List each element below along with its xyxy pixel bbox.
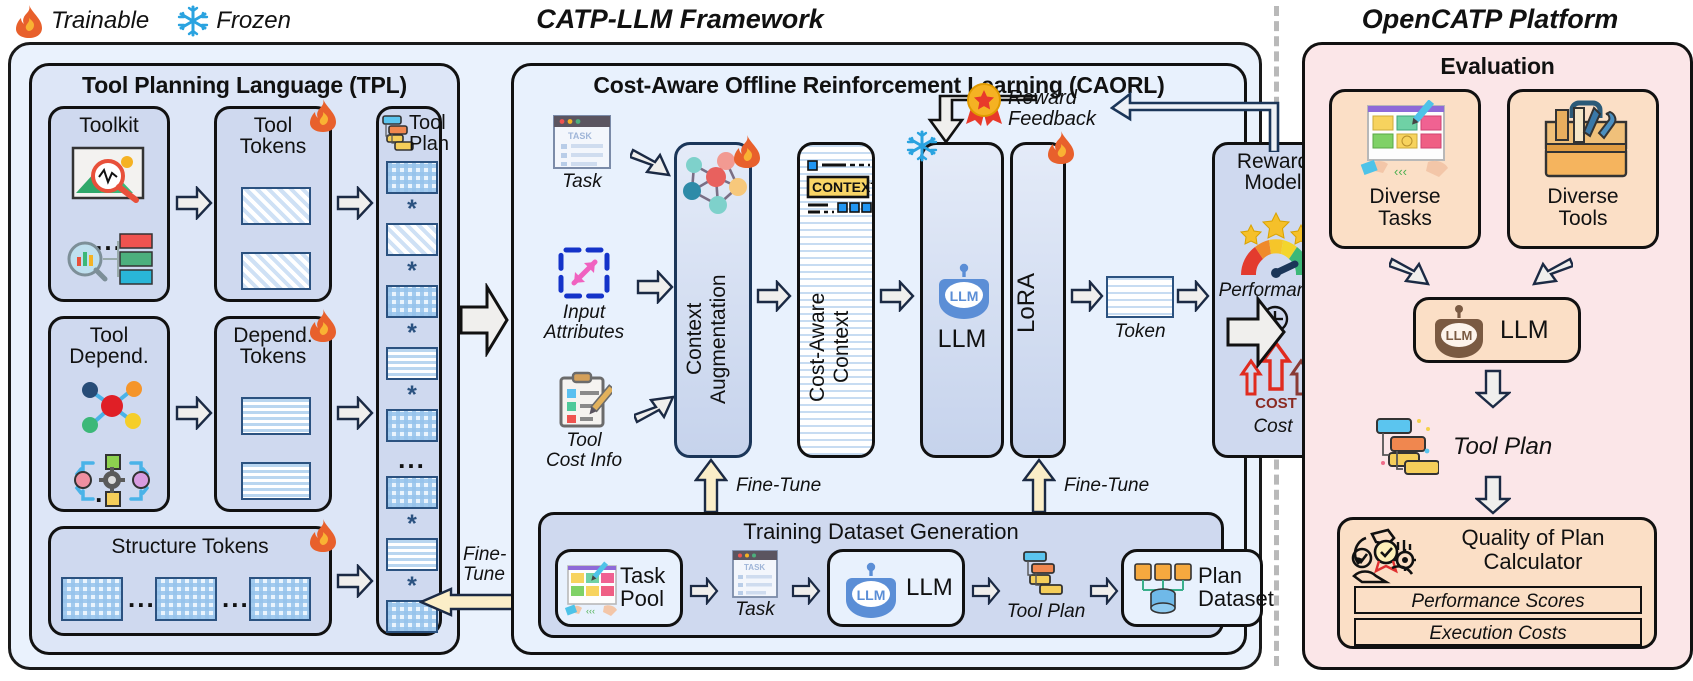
structure-tokens-ellipsis: ... [128,591,150,607]
task-pool-icon: ‹‹‹ [564,560,620,618]
lora-box[interactable]: LoRA [1010,142,1066,458]
task-step-label: Task [723,600,787,620]
plan-token-line [386,347,438,380]
depend-token-chip [241,462,311,500]
fine-tune-left-label: Fine-Tune [736,476,821,496]
plan-token-check [386,409,438,442]
flame-icon [308,518,338,552]
arrow-task-to-context-aug [630,144,672,182]
task-input-label: Task [538,172,626,192]
tool-plan-box[interactable]: Tool Plan * * * * ... * * [376,106,442,636]
reward-feedback-label: Reward Feedback [1008,88,1096,130]
tool-plan-label: Tool Plan [409,113,443,155]
quality-icon [1348,528,1420,588]
framework-title: CATP-LLM Framework [450,4,910,35]
task-input-group: TASK Task [538,114,626,192]
structure-tokens-label: Structure Tokens [51,529,329,557]
context-augmentation-label: Context Augmentation [683,227,749,451]
plan-token-check [386,285,438,318]
flame-icon [308,308,338,342]
arrow-fine-tune-context-aug [694,458,728,514]
flame-icon [1046,130,1076,164]
tool-plan-step-group: Tool Plan [1003,549,1089,622]
task-board-icon: ‹‹‹ [1356,100,1460,182]
training-llm-label: LLM [906,574,953,602]
legend-frozen: Frozen [177,5,291,37]
flame-icon [308,98,338,132]
task-window-icon: TASK [552,114,612,170]
arrow-framework-to-platform [1226,296,1286,368]
framework-container: Tool Planning Language (TPL) Toolkit ... [8,42,1262,670]
plan-token-line [386,538,438,571]
svg-text:TASK: TASK [568,131,592,141]
arrow-task-to-llm [791,577,821,605]
tool-plan-icon [1021,549,1071,601]
chart-analysis-icon [63,231,159,287]
training-llm-box[interactable]: LLM LLM [827,549,965,627]
structure-token-chip [155,577,217,621]
context-badge-text: CONTEXT [812,179,872,195]
arrow-tools-to-llm [1531,253,1573,291]
arrow-token-to-reward-model [1176,280,1210,312]
plan-token-check [386,161,438,194]
arrow-depend-to-depend-tokens [175,396,213,430]
svg-text:LLM: LLM [950,288,979,304]
input-attributes-group: Input Attributes [532,246,636,343]
diverse-tools-box[interactable]: Diverse Tools [1507,89,1659,249]
llm-robot-brown-icon: LLM [1432,304,1486,360]
arrow-structure-tokens-to-plan [336,564,374,598]
flame-icon [732,134,762,168]
quality-of-plan-calculator-box[interactable]: Quality of Plan Calculator Performance S… [1337,517,1657,649]
arrow-cost-context-to-llm [879,280,915,312]
llm-robot-icon: LLM [842,562,900,620]
legend-trainable-label: Trainable [51,7,149,35]
plan-token-hatch [386,223,438,256]
structure-tokens-box[interactable]: Structure Tokens ... ... [48,526,332,636]
context-augmentation-box[interactable]: Context Augmentation [674,142,752,458]
arrow-llm-to-tool-plan [971,577,1001,605]
llm-robot-icon: LLM [935,263,993,321]
arrow-toolkit-to-tool-tokens [175,186,213,220]
tool-cost-info-label: Tool Cost Info [534,431,634,471]
diverse-tools-label: Diverse Tools [1510,186,1656,230]
platform-container: Evaluation ‹‹‹ Diverse Tasks [1302,42,1693,670]
training-dataset-generation-box: Training Dataset Generation ‹‹‹ [538,512,1224,638]
fine-tune-right-label: Fine-Tune [1064,476,1149,496]
svg-text:COST: COST [1255,395,1297,411]
task-pool-box[interactable]: ‹‹‹ Task Pool [555,549,683,627]
arrow-lora-to-token [1070,280,1104,312]
arrow-input-attr-to-context-aug [636,270,674,304]
medal-icon [962,82,1006,128]
token-group: Token [1106,276,1174,342]
platform-tool-plan-label: Tool Plan [1453,433,1552,461]
workflow-gear-icon [73,453,151,507]
execution-costs-row[interactable]: Execution Costs [1354,618,1642,646]
database-icon [1132,562,1194,620]
snowflake-icon [177,5,209,37]
tool-token-chip [241,187,311,225]
plan-separator: * [386,261,438,281]
evaluation-title: Evaluation [1305,45,1690,80]
arrow-cost-info-to-context-aug [634,390,676,428]
tool-depend-label: Tool Depend. [51,319,167,368]
platform-llm-box[interactable]: LLM LLM [1413,297,1581,363]
tool-depend-box[interactable]: Tool Depend. ... [48,316,170,512]
platform-llm-label: LLM [1500,316,1549,345]
training-dataset-title: Training Dataset Generation [541,515,1221,545]
tool-tokens-box[interactable]: Tool Tokens ... [214,106,332,302]
structure-tokens-ellipsis: ... [222,591,244,607]
legend: Trainable Frozen [14,4,291,38]
svg-text:TASK: TASK [744,563,765,572]
plan-separator: * [386,385,438,405]
structure-token-chip [61,577,123,621]
tool-plan-step-label: Tool Plan [1003,602,1089,622]
plan-token-check [386,476,438,509]
context-badge-icon: CONTEXT [806,157,872,223]
arrow-reward-feedback [1110,90,1282,152]
token-chip [1106,276,1174,318]
tool-plan-sequence: * * * * ... * * [386,161,438,633]
arrow-llm-to-tool-plan-platform [1475,369,1511,409]
legend-frozen-label: Frozen [216,7,291,35]
arrow-fine-tune-lora [1022,458,1056,514]
dependency-graph-icon [77,377,147,435]
svg-text:LLM: LLM [857,587,886,603]
token-label: Token [1106,322,1174,342]
input-attributes-label: Input Attributes [532,303,636,343]
plan-separator: * [386,514,438,534]
tool-plan-icon [1371,413,1439,481]
arrow-tool-tokens-to-plan [336,186,374,220]
image-search-icon [70,145,154,203]
tool-token-chip [241,252,311,290]
svg-text:‹‹‹: ‹‹‹ [1394,164,1407,179]
toolkit-label: Toolkit [51,109,167,136]
tpl-panel: Tool Planning Language (TPL) Toolkit ... [29,63,460,655]
toolkit-box[interactable]: Toolkit ... [48,106,170,302]
snowflake-icon [906,130,938,162]
plan-dataset-box[interactable]: Plan Dataset [1121,549,1263,627]
task-step-group: TASK Task [723,549,787,620]
caorl-panel: Cost-Aware Offline Reinforcement Learnin… [511,63,1247,655]
llm-box[interactable]: LLM LLM [920,142,1004,458]
calculator-label: Quality of Plan Calculator [1418,526,1648,574]
arrow-tool-plan-to-dataset [1089,577,1119,605]
plan-dataset-label: Plan Dataset [1198,564,1274,610]
clipboard-icon [556,371,612,429]
plan-separator: * [386,199,438,219]
plan-ellipsis: ... [386,452,438,468]
flame-icon [14,4,44,38]
llm-label: LLM [923,325,1001,354]
platform-title: OpenCATP Platform [1290,4,1690,35]
arrow-tpl-to-caorl [459,283,509,357]
task-pool-label: Task Pool [620,564,665,610]
cost-aware-context-box[interactable]: CONTEXT Cost-Aware Context [797,142,875,458]
depend-tokens-box[interactable]: Depend. Tokens ... [214,316,332,512]
legend-trainable: Trainable [14,4,149,38]
structure-token-chip [249,577,311,621]
toolbox-icon [1538,98,1634,184]
svg-text:‹‹‹: ‹‹‹ [586,606,595,616]
tool-cost-info-group: Tool Cost Info [534,371,634,471]
depend-token-chip [241,397,311,435]
arrow-depend-tokens-to-plan [336,396,374,430]
lora-label: LoRA [1013,145,1069,461]
platform-tool-plan-group: Tool Plan [1371,413,1621,481]
svg-text:LLM: LLM [1446,328,1473,343]
task-window-icon: TASK [731,549,779,599]
tpl-title: Tool Planning Language (TPL) [32,66,457,99]
arrow-task-pool-to-task [689,577,719,605]
fine-tune-back-label: Fine- Tune [463,545,506,585]
cost-aware-context-label: Cost-Aware Context [806,241,872,453]
performance-scores-row[interactable]: Performance Scores [1354,586,1642,614]
diverse-tasks-label: Diverse Tasks [1332,186,1478,230]
diverse-tasks-box[interactable]: ‹‹‹ Diverse Tasks [1329,89,1481,249]
plan-separator: * [386,323,438,343]
input-attributes-icon [557,246,611,300]
arrow-tool-plan-to-calculator [1475,475,1511,515]
arrow-context-aug-to-cost-context [756,280,792,312]
arrow-tasks-to-llm [1389,253,1431,291]
